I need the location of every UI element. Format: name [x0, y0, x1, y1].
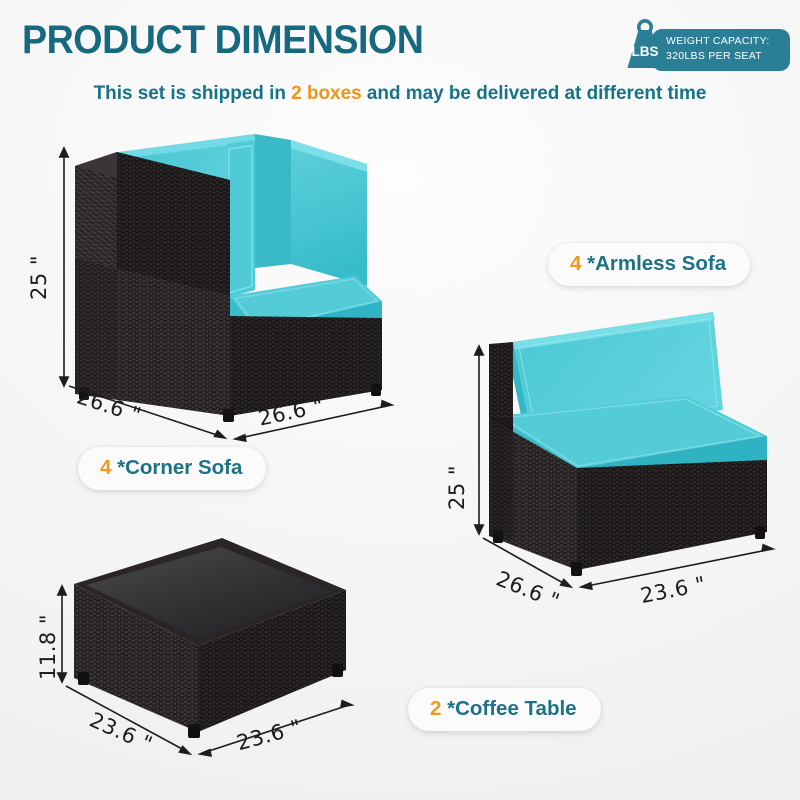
armless-sofa-illustration: [455, 300, 795, 600]
shipping-note-boxes: 2 boxes: [291, 82, 361, 104]
corner-sofa-chip: 4 *Corner Sofa: [78, 447, 266, 490]
coffee-table-chip-count: 2: [430, 697, 441, 720]
shipping-note-prefix: This set is shipped in: [94, 82, 292, 104]
product-dimension-infographic: PRODUCT DIMENSION This set is shipped in…: [0, 0, 800, 800]
weight-capacity-badge: WEIGHT CAPACITY: 320LBS PER SEAT LBS: [610, 14, 790, 72]
corner-sofa-illustration: [55, 118, 395, 418]
corner-sofa-chip-count: 4: [100, 456, 111, 479]
weight-capacity-line1: WEIGHT CAPACITY:: [666, 34, 790, 49]
shipping-note-suffix: and may be delivered at different time: [362, 82, 707, 104]
weight-capacity-line2: 320LBS PER SEAT: [666, 49, 790, 64]
coffee-table-illustration: [30, 528, 350, 778]
corner-sofa-pillow-edge: [227, 140, 255, 298]
page-title: PRODUCT DIMENSION: [22, 18, 423, 63]
coffee-table-chip-label: *Coffee Table: [441, 697, 576, 720]
corner-sofa-height-label: 25 ": [27, 255, 51, 300]
armless-sofa-height-label: 25 ": [445, 465, 469, 510]
weight-icon: LBS: [614, 14, 676, 72]
coffee-table-chip: 2 *Coffee Table: [408, 688, 601, 731]
armless-sofa-chip: 4 *Armless Sofa: [548, 243, 750, 286]
coffee-table-height-label: 11.8 ": [36, 614, 60, 680]
armless-sofa-chip-count: 4: [570, 252, 581, 275]
corner-sofa-back-cushion-right: [291, 140, 367, 286]
shipping-note: This set is shipped in 2 boxes and may b…: [12, 82, 788, 105]
corner-sofa-chip-label: *Corner Sofa: [111, 456, 242, 479]
weight-icon-lbs-label: LBS: [632, 44, 659, 59]
armless-sofa-chip-label: *Armless Sofa: [581, 252, 726, 275]
